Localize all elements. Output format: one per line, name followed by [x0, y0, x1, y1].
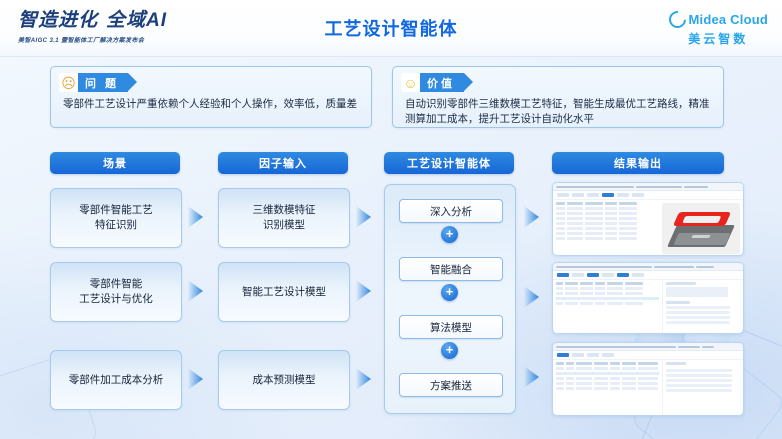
flow-arrow-icon [524, 286, 539, 308]
plus-icon: + [441, 284, 458, 301]
flow-arrow-icon [356, 280, 371, 302]
value-callout: ☺ 价值 自动识别零部件三维数模工艺特征，智能生成最优工艺路线，精准测算加工成本… [392, 66, 724, 128]
result-table [553, 280, 662, 334]
logo-en-text: Midea Cloud [689, 12, 768, 27]
flow-arrow-icon [524, 206, 539, 228]
result-body [553, 200, 743, 256]
result-detail-pane [662, 360, 743, 416]
sad-face-icon: ☹ [59, 73, 78, 92]
flow-arrow-icon [188, 206, 203, 228]
agent-step[interactable]: 深入分析 [399, 199, 503, 223]
app-titlebar [553, 343, 743, 351]
flow-arrow-icon [356, 206, 371, 228]
result-table [553, 360, 662, 416]
app-tabs [553, 191, 743, 200]
agent-panel: 深入分析 + 智能融合 + 算法模型 + 方案推送 [384, 184, 516, 414]
app-titlebar [553, 263, 743, 271]
problem-text: 零部件工艺设计严重依赖个人经验和个人操作，效率低，质量差 [63, 97, 361, 112]
app-tabs [553, 351, 743, 360]
scenario-card: 零部件智能工艺 特征识别 [50, 188, 182, 248]
agent-step[interactable]: 方案推送 [399, 373, 503, 397]
value-tag-row: ☺ 价值 [401, 73, 464, 92]
result-card-cost-analysis[interactable] [552, 342, 744, 416]
logo-cn-text: 美云智数 [669, 30, 768, 47]
app-titlebar [553, 183, 743, 191]
column-header-factor-input: 因子输入 [218, 152, 348, 174]
factor-card: 智能工艺设计模型 [218, 262, 350, 322]
app-tabs [553, 271, 743, 280]
slide-canvas: 智造进化全域AI 美智AIGC 3.1 暨智能体工厂解决方案发布会 工艺设计智能… [0, 0, 782, 439]
flow-arrow-icon [188, 368, 203, 390]
part-3d-preview [662, 203, 740, 254]
plus-icon: + [441, 226, 458, 243]
scenario-card: 零部件加工成本分析 [50, 350, 182, 410]
agent-step[interactable]: 智能融合 [399, 257, 503, 281]
page-title: 工艺设计智能体 [0, 0, 782, 56]
column-header-agent: 工艺设计智能体 [384, 152, 514, 174]
smile-face-icon: ☺ [401, 73, 420, 92]
result-card-feature-recognition[interactable] [552, 182, 744, 256]
result-table [553, 200, 659, 256]
problem-tag-row: ☹ 问 题 [59, 73, 128, 92]
factor-card: 三维数模特征 识别模型 [218, 188, 350, 248]
column-header-scenario: 场景 [50, 152, 180, 174]
logo-en-row: Midea Cloud [669, 11, 768, 28]
factor-card: 成本预测模型 [218, 350, 350, 410]
midea-swirl-icon [665, 7, 689, 31]
problem-tag-label: 问 题 [78, 73, 128, 92]
flow-arrow-icon [356, 368, 371, 390]
value-text: 自动识别零部件三维数模工艺特征，智能生成最优工艺路线，精准测算加工成本，提升工艺… [405, 97, 713, 127]
scenario-card: 零部件智能 工艺设计与优化 [50, 262, 182, 322]
slide-header: 智造进化全域AI 美智AIGC 3.1 暨智能体工厂解决方案发布会 工艺设计智能… [0, 0, 782, 57]
result-body [553, 360, 743, 416]
problem-callout: ☹ 问 题 零部件工艺设计严重依赖个人经验和个人操作，效率低，质量差 [50, 66, 372, 128]
result-detail-pane [662, 280, 743, 334]
flow-arrow-icon [188, 280, 203, 302]
plus-icon: + [441, 342, 458, 359]
flow-arrow-icon [524, 366, 539, 388]
agent-step[interactable]: 算法模型 [399, 315, 503, 339]
value-tag-label: 价值 [420, 73, 464, 92]
result-card-process-design[interactable] [552, 262, 744, 334]
result-body [553, 280, 743, 334]
column-header-result-output: 结果输出 [552, 152, 724, 174]
midea-cloud-logo: Midea Cloud 美云智数 [669, 11, 768, 47]
